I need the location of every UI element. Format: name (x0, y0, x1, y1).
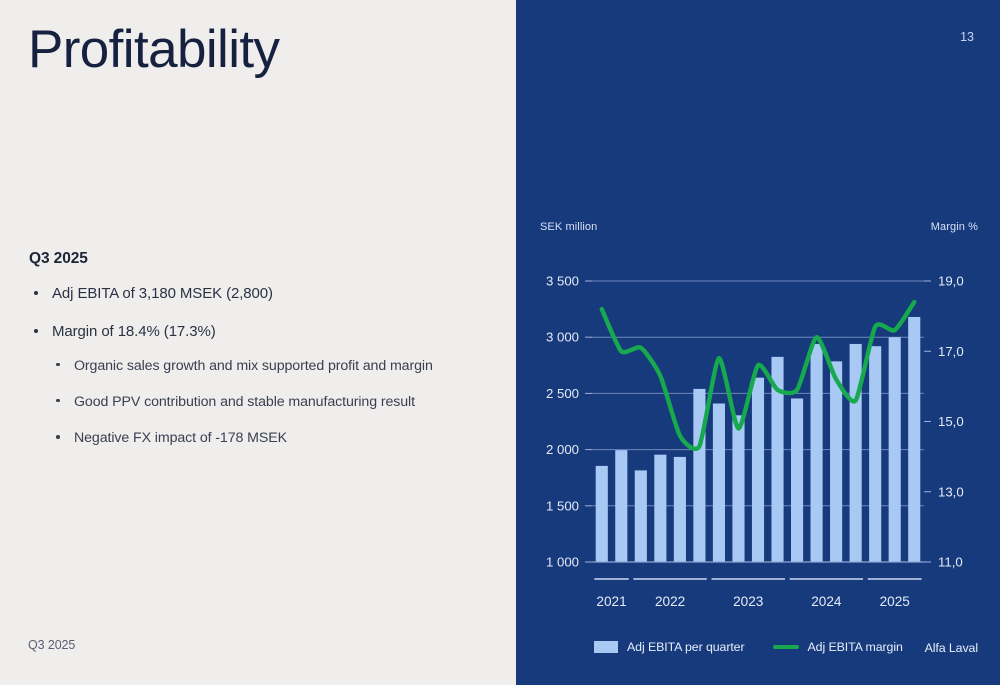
bar (674, 457, 686, 562)
bar (654, 455, 666, 562)
bar (732, 415, 744, 562)
sub-bullet-dot-icon (56, 363, 60, 367)
y2-tick-label: 13,0 (938, 484, 964, 499)
bar (596, 466, 608, 562)
line-swatch-icon (773, 645, 799, 649)
sub-bullet-list: Organic sales growth and mix supported p… (52, 357, 459, 449)
bar (713, 404, 725, 562)
y-tick-label: 2 000 (546, 442, 579, 457)
sub-bullet-text: Organic sales growth and mix supported p… (74, 358, 433, 374)
bar (850, 344, 862, 562)
bar (635, 470, 647, 562)
sub-bullet-dot-icon (56, 435, 60, 439)
bar (615, 450, 627, 562)
chart: 1 0001 5002 0002 5003 0003 50011,013,015… (516, 0, 1000, 685)
y-tick-label: 3 500 (546, 274, 579, 289)
y2-tick-label: 17,0 (938, 344, 964, 359)
brand-label: Alfa Laval (925, 641, 978, 655)
sub-bullet-item: Negative FX impact of -178 MSEK (52, 429, 459, 448)
bar (791, 398, 803, 562)
sub-bullet-item: Good PPV contribution and stable manufac… (52, 393, 459, 412)
y2-tick-label: 15,0 (938, 414, 964, 429)
bullet-item: Margin of 18.4% (17.3%)Organic sales gro… (29, 322, 459, 448)
right-panel: 13 SEK million Margin % 1 0001 5002 0002… (516, 0, 1000, 685)
year-label: 2024 (811, 594, 842, 609)
chart-legend: Adj EBITA per quarter Adj EBITA margin (594, 640, 931, 654)
y-tick-label: 3 000 (546, 330, 579, 345)
left-panel: Profitability Q3 2025 Adj EBITA of 3,180… (0, 0, 516, 685)
year-label: 2025 (880, 594, 910, 609)
bullet-dot-icon (34, 291, 38, 295)
legend-item-line: Adj EBITA margin (773, 640, 903, 654)
legend-label-bars: Adj EBITA per quarter (627, 640, 745, 654)
bullet-text: Adj EBITA of 3,180 MSEK (2,800) (52, 285, 273, 302)
bar-swatch-icon (594, 641, 618, 653)
year-label: 2021 (596, 594, 626, 609)
bullet-item: Adj EBITA of 3,180 MSEK (2,800) (29, 284, 459, 304)
y-tick-label: 2 500 (546, 386, 579, 401)
bar (889, 337, 901, 562)
y-tick-label: 1 000 (546, 555, 579, 570)
bar (908, 317, 920, 562)
bar (693, 389, 705, 562)
sub-bullet-dot-icon (56, 399, 60, 403)
bar (811, 344, 823, 562)
y2-tick-label: 11,0 (938, 555, 963, 570)
footer-label: Q3 2025 (28, 638, 75, 652)
year-label: 2023 (733, 594, 763, 609)
sub-bullet-item: Organic sales growth and mix supported p… (52, 357, 459, 376)
sub-bullet-text: Good PPV contribution and stable manufac… (74, 394, 415, 410)
bullet-dot-icon (34, 329, 38, 333)
bar (869, 346, 881, 562)
legend-item-bars: Adj EBITA per quarter (594, 640, 745, 654)
bar (830, 361, 842, 562)
content-kicker: Q3 2025 (29, 250, 459, 268)
bullet-list: Adj EBITA of 3,180 MSEK (2,800)Margin of… (29, 284, 459, 448)
legend-label-line: Adj EBITA margin (808, 640, 903, 654)
chart-svg: 1 0001 5002 0002 5003 0003 50011,013,015… (516, 0, 1000, 685)
bullet-text: Margin of 18.4% (17.3%) (52, 323, 216, 340)
slide: Profitability Q3 2025 Adj EBITA of 3,180… (0, 0, 1000, 685)
year-label: 2022 (655, 594, 685, 609)
content-block: Q3 2025 Adj EBITA of 3,180 MSEK (2,800)M… (29, 250, 459, 466)
page-title: Profitability (28, 22, 279, 78)
bar (752, 378, 764, 562)
y-tick-label: 1 500 (546, 498, 579, 513)
y2-tick-label: 19,0 (938, 274, 964, 289)
sub-bullet-text: Negative FX impact of -178 MSEK (74, 430, 287, 446)
